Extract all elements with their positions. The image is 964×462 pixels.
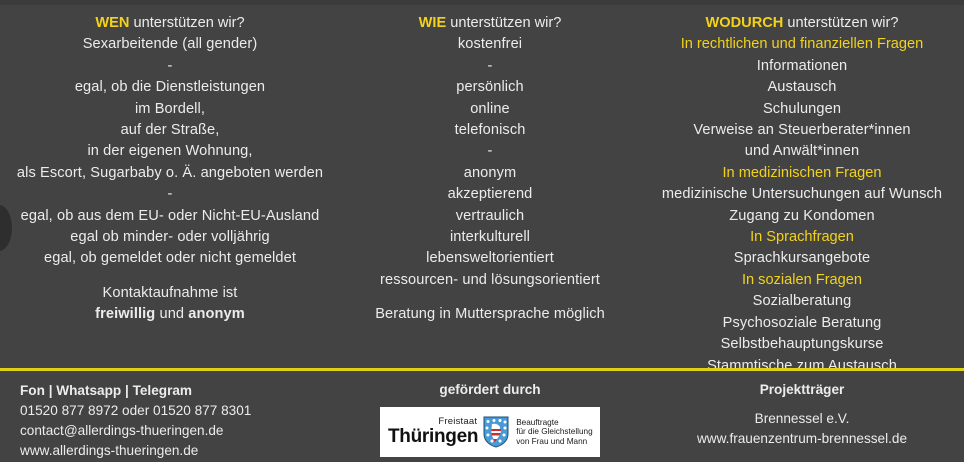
closing-conjunction: und xyxy=(155,306,188,322)
logo-line-1: Beauftragte xyxy=(516,418,592,428)
funding-title: gefördert durch xyxy=(439,380,540,400)
list-item: - xyxy=(168,184,173,205)
list-item: Verweise an Steuerberater*innen xyxy=(693,120,910,141)
list-item: akzeptierend xyxy=(448,184,533,205)
list-item: Informationen xyxy=(757,56,848,77)
column-wie: WIE unterstützen wir? kostenfrei - persö… xyxy=(340,0,640,368)
closing-line-emphasis: freiwillig und anonym xyxy=(95,304,245,325)
list-item: vertraulich xyxy=(456,206,524,227)
thueringen-coat-of-arms-icon xyxy=(483,416,509,448)
list-item: anonym xyxy=(464,163,517,184)
column-wen-heading: WEN unterstützen wir? xyxy=(95,13,244,34)
thueringen-wordmark: Freistaat Thüringen xyxy=(388,417,478,447)
list-item: egal, ob die Dienstleistungen xyxy=(75,77,265,98)
list-item: und Anwält*innen xyxy=(745,141,859,162)
heading-rest-wie: unterstützen wir? xyxy=(446,15,561,31)
heading-highlight-wie: WIE xyxy=(419,15,447,31)
column-wie-heading: WIE unterstützen wir? xyxy=(419,13,562,34)
group-title-rechtlich: In rechtlichen und finanziellen Fragen xyxy=(681,34,924,55)
logo-commissioner-text: Beauftragte für die Gleichstellung von F… xyxy=(516,418,592,447)
list-item: - xyxy=(488,141,493,162)
contact-email[interactable]: contact@allerdings-thueringen.de xyxy=(20,421,340,441)
list-item: persönlich xyxy=(456,77,524,98)
list-item: interkulturell xyxy=(450,227,530,248)
logo-line-2: für die Gleichstellung xyxy=(516,427,592,437)
list-item: egal, ob aus dem EU- oder Nicht-EU-Ausla… xyxy=(21,206,320,227)
list-item: online xyxy=(470,99,510,120)
contact-channels-title: Fon | Whatsapp | Telegram xyxy=(20,381,340,401)
group-title-medizinisch: In medizinischen Fragen xyxy=(723,163,882,184)
group-title-sprache: In Sprachfragen xyxy=(750,227,854,248)
closing-bold-freiwillig: freiwillig xyxy=(95,306,155,322)
list-item: Selbstbehauptungskurse xyxy=(721,334,884,355)
list-item: ressourcen- und lösungsorientiert xyxy=(380,270,600,291)
list-item: Psychosoziale Beratung xyxy=(723,313,882,334)
footer-funding: gefördert durch Freistaat Thüringen xyxy=(340,371,640,462)
list-item: Zugang zu Kondomen xyxy=(729,206,874,227)
list-item: egal, ob gemeldet oder nicht gemeldet xyxy=(44,248,296,269)
heading-rest-wen: unterstützen wir? xyxy=(129,15,244,31)
footer-contact: Fon | Whatsapp | Telegram 01520 877 8972… xyxy=(0,371,340,462)
column-wen: WEN unterstützen wir? Sexarbeitende (all… xyxy=(0,0,340,368)
carrier-title: Projektträger xyxy=(760,380,845,400)
contact-website[interactable]: www.allerdings-thueringen.de xyxy=(20,441,340,461)
closing-bold-anonym: anonym xyxy=(188,306,245,322)
logo-line-3: von Frau und Mann xyxy=(516,437,592,447)
content-columns: WEN unterstützen wir? Sexarbeitende (all… xyxy=(0,0,964,368)
list-item: - xyxy=(488,56,493,77)
list-item: in der eigenen Wohnung, xyxy=(87,141,252,162)
list-item: Austausch xyxy=(767,77,836,98)
list-item: Sexarbeitende (all gender) xyxy=(83,34,258,55)
list-item: medizinische Untersuchungen auf Wunsch xyxy=(662,184,942,205)
carrier-website[interactable]: www.frauenzentrum-brennessel.de xyxy=(697,429,907,449)
thueringen-logo: Freistaat Thüringen xyxy=(380,407,600,457)
list-item: auf der Straße, xyxy=(121,120,220,141)
footer-carrier: Projektträger Brennessel e.V. www.frauen… xyxy=(640,371,964,462)
heading-highlight-wodurch: WODURCH xyxy=(705,15,783,31)
carrier-org: Brennessel e.V. xyxy=(755,409,850,429)
list-item: egal ob minder- oder volljährig xyxy=(70,227,269,248)
closing-line: Beratung in Muttersprache möglich xyxy=(375,304,605,325)
heading-rest-wodurch: unterstützen wir? xyxy=(783,15,898,31)
contact-phone[interactable]: 01520 877 8972 oder 01520 877 8301 xyxy=(20,401,340,421)
list-item: - xyxy=(168,56,173,77)
logo-thueringen-label: Thüringen xyxy=(388,427,478,447)
column-wodurch-heading: WODURCH unterstützen wir? xyxy=(705,13,898,34)
closing-line: Kontaktaufnahme ist xyxy=(103,283,238,304)
list-item: Sozialberatung xyxy=(753,291,852,312)
list-item: lebensweltorientiert xyxy=(426,248,554,269)
list-item: kostenfrei xyxy=(458,34,522,55)
list-item: im Bordell, xyxy=(135,99,205,120)
footer: Fon | Whatsapp | Telegram 01520 877 8972… xyxy=(0,371,964,462)
column-wodurch: WODURCH unterstützen wir? In rechtlichen… xyxy=(640,0,964,368)
list-item: telefonisch xyxy=(455,120,526,141)
heading-highlight-wen: WEN xyxy=(95,15,129,31)
group-title-sozial: In sozialen Fragen xyxy=(742,270,862,291)
list-item: Sprachkursangebote xyxy=(734,248,870,269)
list-item: Schulungen xyxy=(763,99,841,120)
list-item: als Escort, Sugarbaby o. Ä. angeboten we… xyxy=(17,163,323,184)
